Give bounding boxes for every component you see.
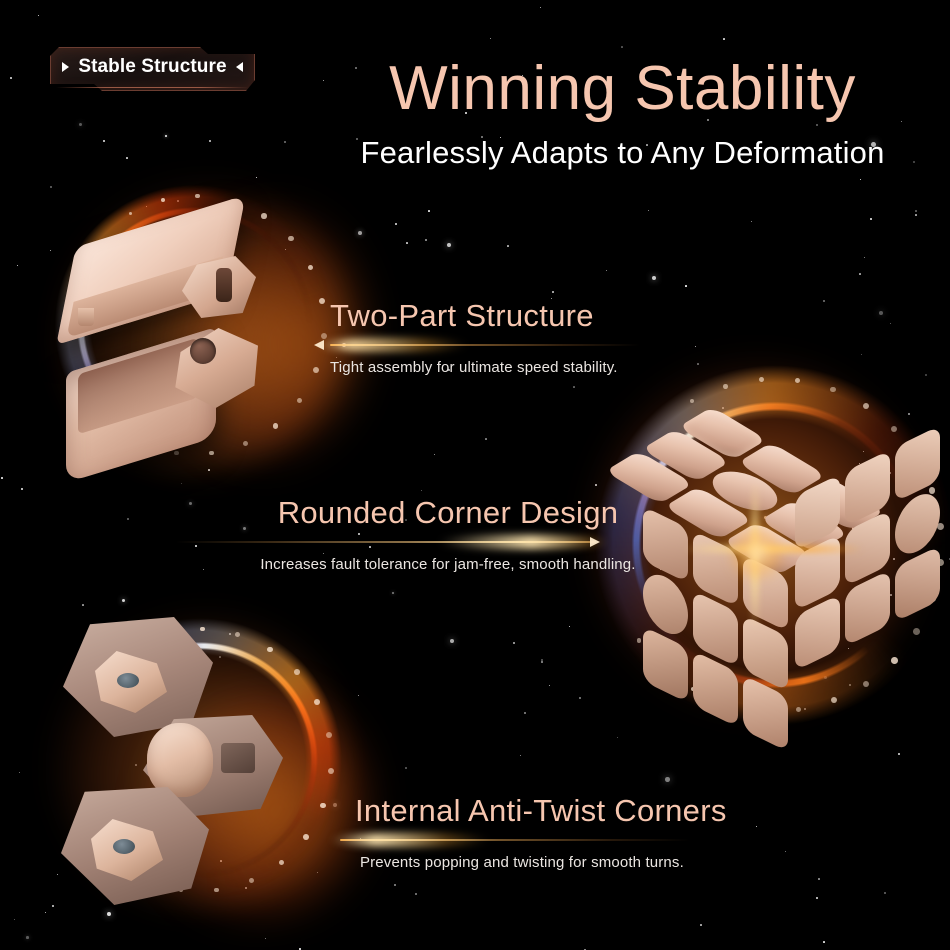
star [665, 777, 670, 782]
star [816, 897, 818, 899]
star [823, 300, 825, 302]
ring-dot [759, 377, 764, 382]
ring-dot [314, 699, 320, 705]
ring-dot [129, 212, 133, 216]
star [265, 938, 266, 939]
star [864, 257, 865, 258]
star [884, 892, 886, 894]
star [569, 626, 570, 627]
ring-dot [328, 768, 334, 774]
ring-dot [249, 878, 254, 883]
star [621, 46, 623, 48]
ring-dot [326, 732, 332, 738]
star [685, 285, 687, 287]
star [695, 346, 696, 347]
star [189, 502, 192, 505]
star [606, 270, 607, 271]
star [879, 311, 883, 315]
star [38, 15, 39, 16]
badge-label: Stable Structure [78, 56, 226, 78]
ring-dot [267, 647, 272, 652]
ring-dot [261, 213, 266, 218]
feature-description: Prevents popping and twisting for smooth… [360, 854, 755, 871]
ring-dot [243, 441, 248, 446]
star [648, 210, 649, 211]
star [860, 179, 861, 180]
feature-title: Internal Anti-Twist Corners [355, 793, 755, 829]
ring-dot [303, 834, 309, 840]
ring-dot [174, 451, 178, 455]
star [507, 245, 509, 247]
star [549, 685, 550, 686]
star [513, 642, 515, 644]
star [756, 826, 757, 827]
star [700, 924, 702, 926]
star [541, 659, 543, 661]
anti-twist-corners-render [35, 595, 365, 925]
ring-dot [321, 333, 327, 339]
star [209, 140, 211, 142]
star [428, 210, 430, 212]
feature-two-part-structure: Two-Part Structure Tight assembly for ul… [330, 298, 660, 376]
star [19, 772, 20, 773]
ring-dot [294, 669, 300, 675]
triangle-right-icon [62, 62, 69, 72]
star [203, 569, 204, 570]
star [405, 767, 407, 769]
feature-divider [330, 338, 660, 352]
feature-description: Increases fault tolerance for jam-free, … [238, 556, 658, 573]
star [392, 592, 394, 594]
star [485, 438, 487, 440]
triangle-left-icon [236, 62, 243, 72]
ring-dot [279, 860, 285, 866]
star [394, 884, 396, 886]
star [915, 214, 917, 216]
product-feature-banner: Stable Structure Winning Stability Fearl… [0, 0, 950, 950]
ring-dot [214, 888, 219, 893]
star [395, 223, 397, 225]
ring-dot [319, 298, 325, 304]
feature-title: Two-Part Structure [330, 298, 660, 334]
star [26, 936, 29, 939]
star [126, 157, 128, 159]
star [447, 243, 451, 247]
feature-divider [355, 833, 755, 847]
star [165, 135, 167, 137]
star [284, 141, 286, 143]
star [751, 221, 752, 222]
ring-dot [235, 632, 240, 637]
star [823, 941, 825, 943]
star [79, 123, 82, 126]
star [524, 712, 526, 714]
headline-block: Winning Stability Fearlessly Adapts to A… [300, 58, 945, 171]
star [17, 265, 18, 266]
ring-dot [320, 803, 326, 809]
star [434, 454, 435, 455]
ring-dot [795, 378, 801, 384]
star [818, 878, 820, 880]
star [450, 639, 454, 643]
star [490, 38, 491, 39]
star [652, 276, 656, 280]
feature-internal-anti-twist-corners: Internal Anti-Twist Corners Prevents pop… [355, 793, 755, 871]
star [127, 518, 129, 520]
ring-dot [288, 236, 294, 242]
star [552, 291, 554, 293]
star [406, 242, 408, 244]
star [870, 218, 872, 220]
star [915, 210, 917, 212]
page-subtitle: Fearlessly Adapts to Any Deformation [300, 135, 945, 171]
star [573, 386, 575, 388]
star [21, 488, 23, 490]
feature-description: Tight assembly for ultimate speed stabil… [330, 359, 660, 376]
ring-dot [161, 198, 165, 202]
star [859, 273, 861, 275]
feature-divider [238, 535, 658, 549]
star [541, 661, 543, 663]
ring-dot [297, 398, 303, 404]
star [785, 851, 786, 852]
ring-dot [195, 194, 200, 199]
star [425, 239, 427, 241]
ring-dot [200, 627, 205, 632]
ring-dot [313, 367, 319, 373]
star [579, 697, 581, 699]
stable-structure-badge[interactable]: Stable Structure [50, 47, 255, 91]
star [103, 140, 105, 142]
star [890, 323, 891, 324]
star [1, 477, 3, 479]
ring-dot [273, 423, 279, 429]
star [415, 893, 417, 895]
page-title: Winning Stability [300, 58, 945, 120]
star [520, 755, 521, 756]
star [10, 77, 12, 79]
ring-dot [308, 265, 314, 271]
star [723, 38, 725, 40]
star [195, 545, 197, 547]
star [540, 7, 541, 8]
two-part-structure-render [30, 160, 360, 490]
star [421, 490, 422, 491]
star [14, 919, 15, 920]
feature-rounded-corner-design: Rounded Corner Design Increases fault to… [238, 495, 658, 573]
ring-dot [209, 451, 214, 456]
feature-title: Rounded Corner Design [238, 495, 658, 531]
